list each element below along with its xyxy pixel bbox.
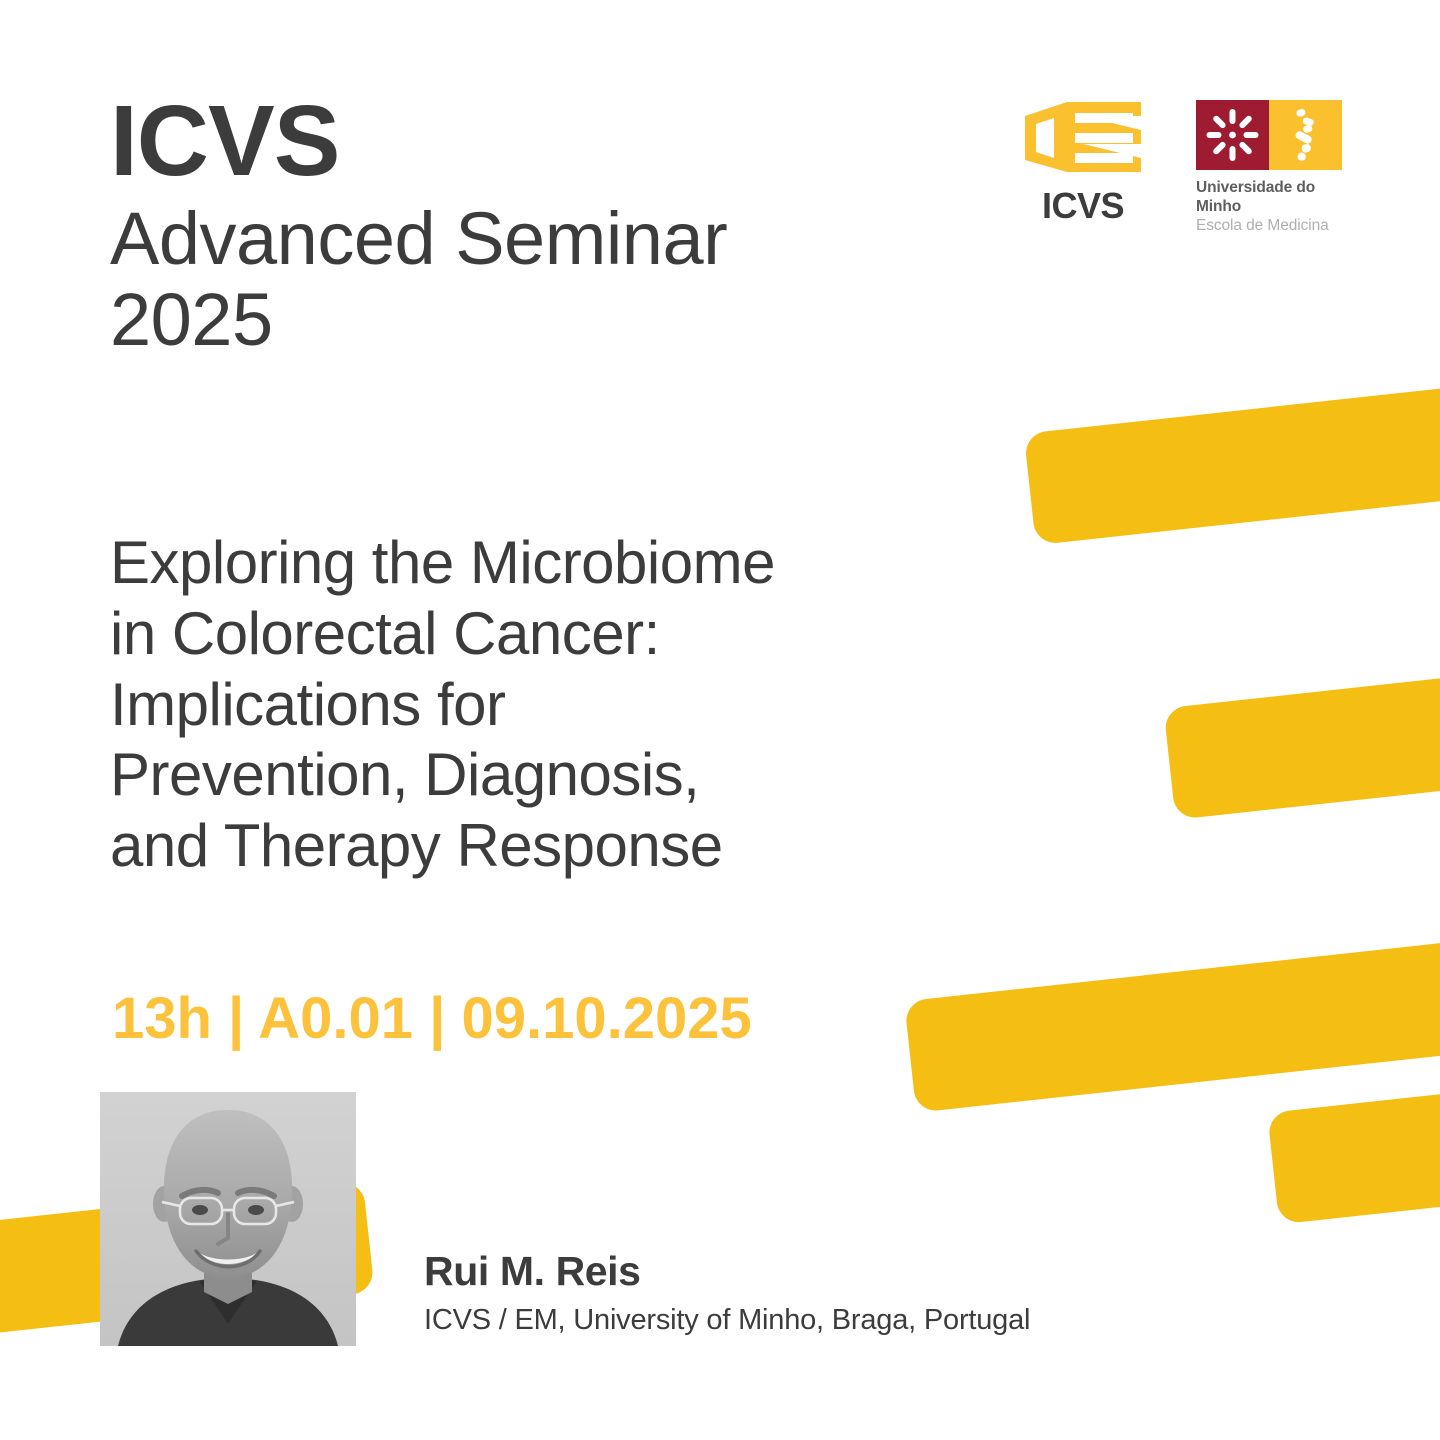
speaker-portrait — [100, 1092, 356, 1346]
decorative-bar — [1024, 367, 1440, 545]
uminho-logo: Universidade do Minho Escola de Medicina — [1196, 100, 1348, 236]
series-title: Advanced Seminar 2025 — [110, 198, 990, 361]
speaker-affiliation: ICVS / EM, University of Minho, Braga, P… — [424, 1304, 1284, 1337]
uminho-name: Universidade do Minho — [1196, 179, 1348, 217]
uminho-school: Escola de Medicina — [1196, 217, 1329, 236]
poster-header: ICVS Advanced Seminar 2025 — [110, 92, 990, 361]
talk-details: 13h | A0.01 | 09.10.2025 — [112, 990, 752, 1048]
talk-title: Exploring the Microbiome in Colorectal C… — [110, 528, 990, 882]
decorative-bar — [904, 919, 1440, 1112]
decorative-bar — [1267, 1068, 1440, 1225]
icvs-logo: ICVS — [1018, 100, 1148, 224]
uminho-crest-icon — [1196, 100, 1342, 170]
speaker-info: Rui M. Reis ICVS / EM, University of Min… — [424, 1249, 1284, 1337]
logo-lockup: ICVS — [1018, 100, 1348, 236]
speaker-name: Rui M. Reis — [424, 1249, 1284, 1294]
brand-title: ICVS — [110, 92, 990, 190]
icvs-wordmark: ICVS — [1042, 188, 1124, 224]
seminar-poster: ICVS Advanced Seminar 2025 — [0, 0, 1440, 1440]
icvs-folded-mark-icon — [1023, 100, 1143, 178]
decorative-bar — [1163, 652, 1440, 820]
